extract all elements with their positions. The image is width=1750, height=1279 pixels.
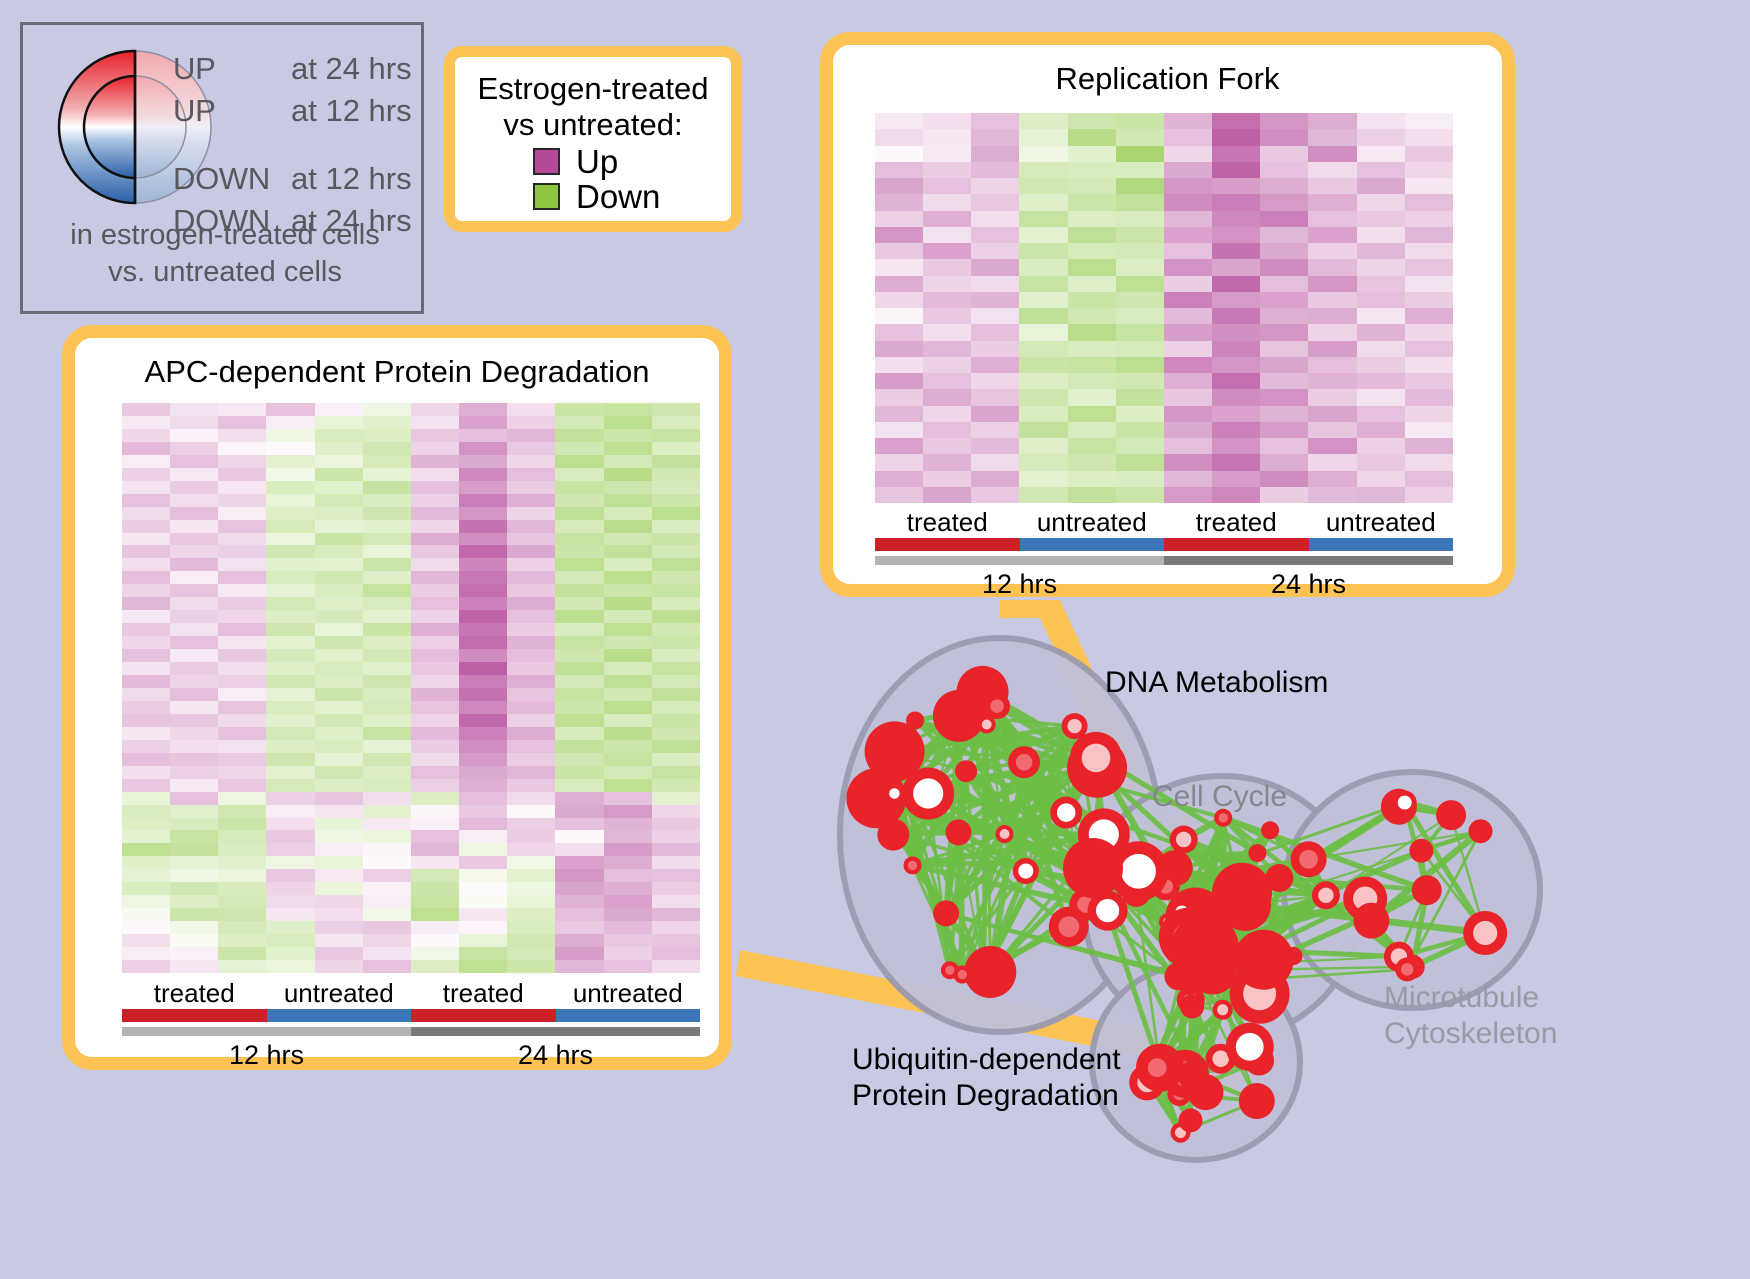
network-node[interactable] (946, 819, 972, 845)
network-node-core (1176, 832, 1191, 847)
network-node-core (1016, 754, 1033, 771)
network-node[interactable] (955, 760, 977, 782)
cluster-label-microtubule: Microtubule Cytoskeleton (1384, 980, 1557, 1052)
network-node-core (982, 720, 992, 730)
network-node-core (1217, 1004, 1228, 1015)
network-node[interactable] (933, 900, 959, 926)
cluster-label-cell-cycle: Cell Cycle (1152, 780, 1287, 814)
network-node-core (1096, 899, 1119, 922)
network-node-core (1236, 1033, 1264, 1061)
network-node-core (1299, 850, 1318, 869)
network-node-core (1121, 854, 1156, 889)
network-node[interactable] (1063, 838, 1123, 898)
network-node-core (1148, 1058, 1167, 1077)
network-node-core (990, 699, 1004, 713)
network-node[interactable] (1436, 800, 1466, 830)
network-node-core (945, 966, 954, 975)
network-node[interactable] (1248, 844, 1266, 862)
network-node-core (1000, 829, 1010, 839)
cluster-label-microtubule-line2: Cytoskeleton (1384, 1016, 1557, 1052)
network-node-core (913, 778, 943, 808)
cluster-label-ubiquitin: Ubiquitin-dependent Protein Degradation (852, 1042, 1121, 1114)
network-node-core (1318, 888, 1333, 903)
network-node[interactable] (865, 721, 925, 781)
network-node[interactable] (1409, 839, 1433, 863)
network-node[interactable] (975, 965, 993, 983)
network-node-core (889, 788, 899, 798)
network-node-core (1058, 916, 1079, 937)
network-node-core (908, 861, 917, 870)
network-node-core (1473, 921, 1497, 945)
network-node-core (1082, 744, 1111, 773)
network-node-core (1219, 813, 1228, 822)
cluster-label-dna-metabolism: DNA Metabolism (1105, 666, 1328, 700)
network-node[interactable] (1265, 864, 1293, 892)
network-node[interactable] (1239, 1083, 1275, 1119)
network-node-core (958, 970, 967, 979)
network-node[interactable] (1179, 1108, 1203, 1132)
network-node-core (1398, 796, 1412, 810)
network-node-core (1212, 1050, 1229, 1067)
network-node-core (1057, 803, 1076, 822)
cluster-label-microtubule-line1: Microtubule (1384, 980, 1557, 1016)
network-node[interactable] (1261, 821, 1279, 839)
cluster-label-ubiquitin-line2: Protein Degradation (852, 1078, 1121, 1114)
network-node[interactable] (1469, 819, 1493, 843)
network-node[interactable] (933, 690, 985, 742)
network-node-core (1401, 963, 1413, 975)
network-node[interactable] (1353, 903, 1389, 939)
network-node-core (1018, 863, 1033, 878)
network-node[interactable] (877, 819, 909, 851)
network-node[interactable] (1219, 879, 1271, 931)
network-node[interactable] (1412, 875, 1442, 905)
network-node[interactable] (1180, 995, 1204, 1019)
network-node-core (1067, 719, 1081, 733)
cluster-label-ubiquitin-line1: Ubiquitin-dependent (852, 1042, 1121, 1078)
network-node[interactable] (1234, 930, 1294, 990)
